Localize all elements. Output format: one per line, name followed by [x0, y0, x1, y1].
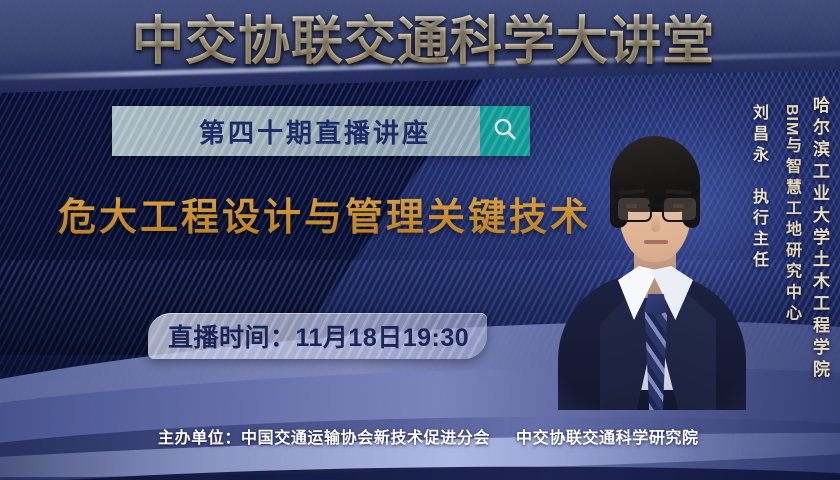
portrait-glasses-left-lens	[616, 196, 652, 222]
speaker-affiliation: 哈尔滨工业大学土木工程学院	[807, 96, 832, 382]
footer-org-primary: 中国交通运输协会新技术促进分会	[241, 430, 490, 447]
footer-prefix: 主办单位：	[158, 430, 241, 447]
portrait-glasses-bridge	[648, 204, 662, 207]
broadcast-time-text: 直播时间：11月18日19:30	[168, 318, 469, 354]
page-title: 中交协联交通科学大讲堂	[132, 14, 715, 71]
livestream-poster: 中交协联交通科学大讲堂 第四十期直播讲座 危大工程设计与管理关键技术 直播时间：…	[0, 0, 840, 480]
search-button[interactable]	[480, 106, 530, 156]
broadcast-time-pill: 直播时间：11月18日19:30	[148, 313, 487, 359]
search-icon	[492, 116, 518, 147]
session-banner: 第四十期直播讲座	[112, 106, 530, 156]
footer-org-secondary: 中交协联交通科学研究院	[516, 430, 699, 447]
speaker-research-center: BIM与智慧工地研究中心	[779, 104, 804, 325]
speaker-research-center-acronym: BIM	[783, 104, 800, 136]
portrait-nose	[651, 214, 660, 232]
speaker-portrait	[556, 78, 748, 410]
speaker-research-center-rest: 与智慧工地研究中心	[783, 136, 800, 325]
portrait-mouth	[644, 240, 668, 244]
footer-organizers: 主办单位：中国交通运输协会新技术促进分会中交协联交通科学研究院	[158, 424, 699, 448]
session-banner-body: 第四十期直播讲座	[112, 106, 480, 156]
lecture-topic: 危大工程设计与管理关键技术	[58, 186, 591, 241]
session-label: 第四十期直播讲座	[161, 113, 431, 150]
portrait-glasses-right-lens	[662, 196, 698, 222]
speaker-role: 执行主任	[746, 188, 770, 272]
speaker-name: 刘昌永	[746, 104, 770, 167]
